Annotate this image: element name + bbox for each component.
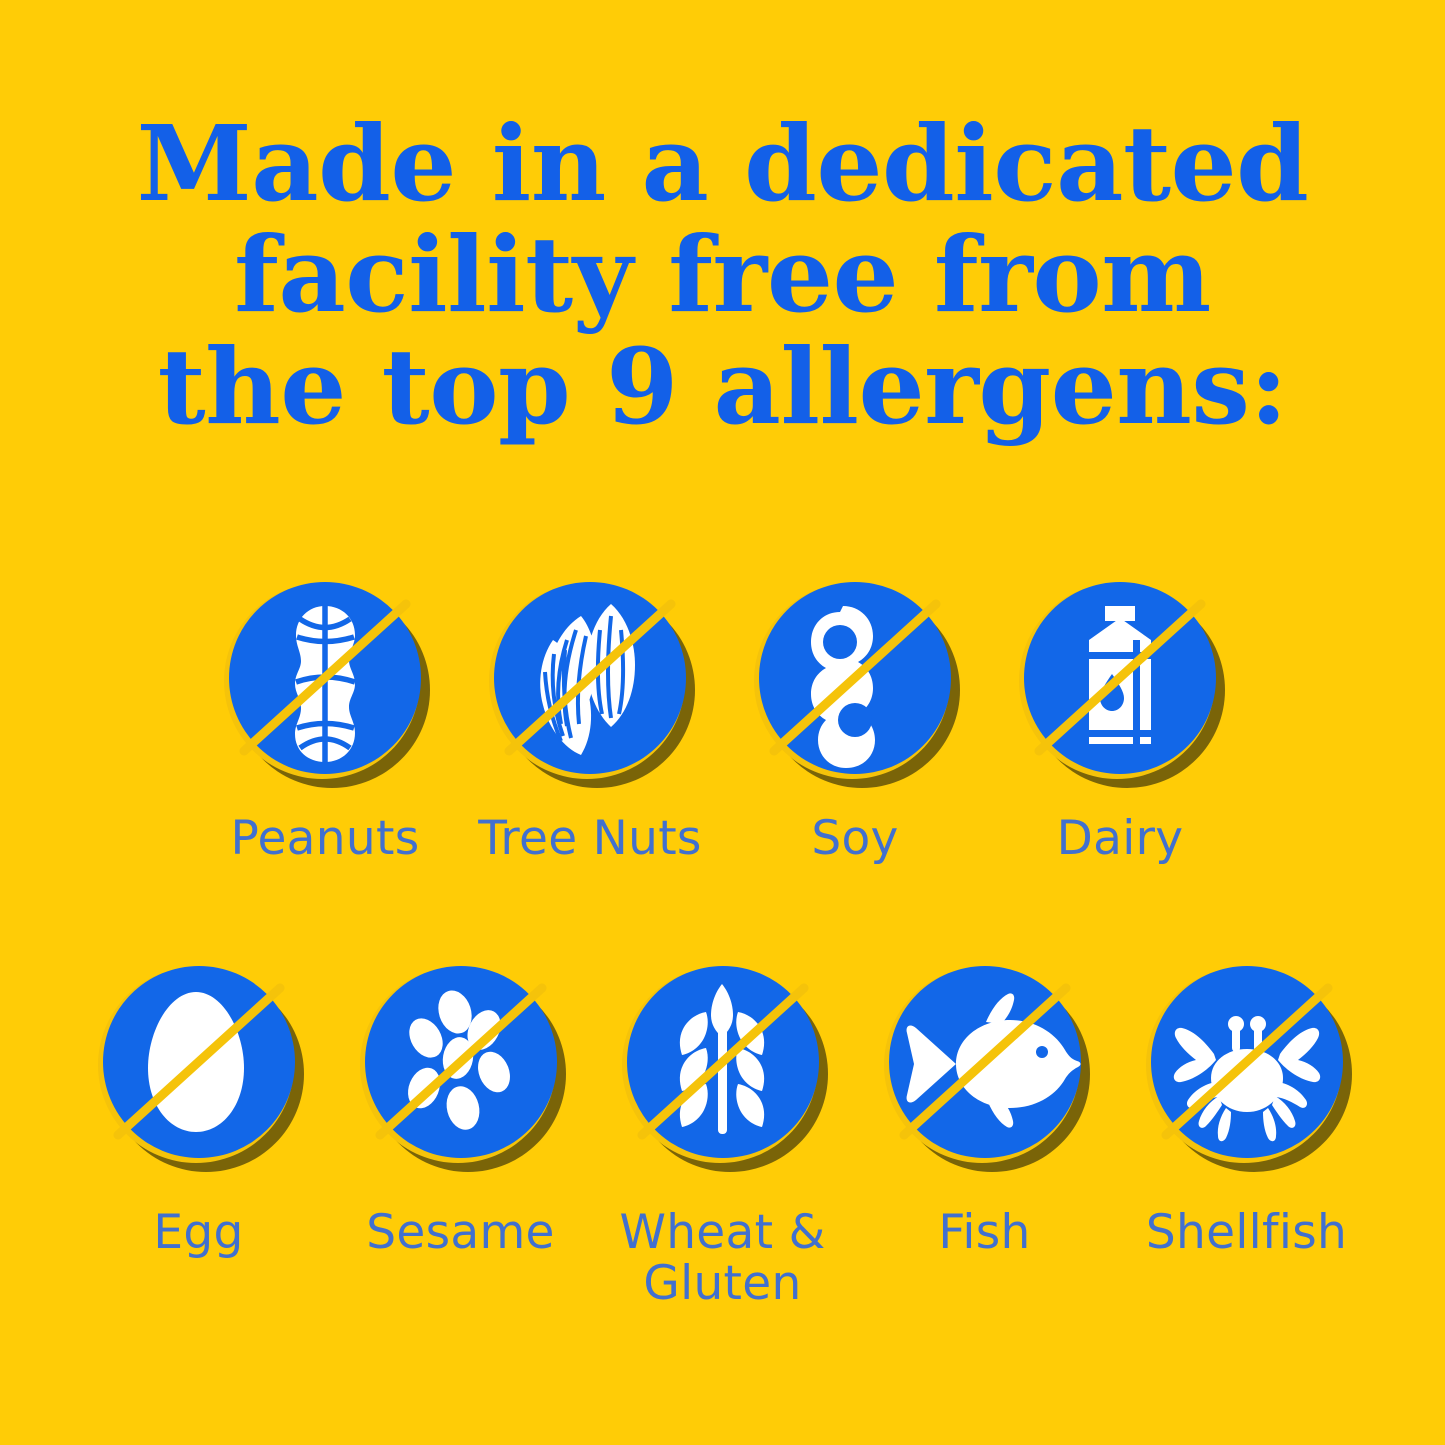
tree-nuts-badge (487, 578, 693, 784)
fish-eye (1036, 1046, 1048, 1058)
dairy-badge (1017, 578, 1223, 784)
allergen-item-shellfish: Shellfish (1116, 962, 1378, 1259)
allergen-item-sesame: Sesame (330, 962, 592, 1259)
page-title: Made in a dedicated facility free from t… (0, 108, 1445, 442)
allergen-item-tree-nuts: Tree Nuts (458, 578, 723, 865)
allergen-item-dairy: Dairy (988, 578, 1253, 865)
allergen-label: Peanuts (231, 814, 420, 865)
allergen-item-fish: Fish (854, 962, 1116, 1259)
allergen-label: Wheat & Gluten (619, 1208, 825, 1310)
page-title-line-1: Made in a dedicated (95, 108, 1350, 219)
allergen-row-2: Egg (0, 962, 1445, 1310)
allergen-item-peanuts: Peanuts (193, 578, 458, 865)
allergen-row-1: Peanuts (0, 578, 1445, 865)
soy-badge (752, 578, 958, 784)
fish-badge (882, 962, 1088, 1168)
allergen-label: Fish (938, 1208, 1030, 1259)
allergen-label: Sesame (366, 1208, 555, 1259)
allergen-item-wheat-gluten: Wheat & Gluten (592, 962, 854, 1310)
sesame-badge (358, 962, 564, 1168)
allergen-label: Tree Nuts (478, 814, 701, 865)
egg-badge (96, 962, 302, 1168)
allergen-poster: Made in a dedicated facility free from t… (0, 0, 1445, 1445)
allergen-label: Soy (811, 814, 898, 865)
allergen-label: Egg (153, 1208, 243, 1259)
allergen-item-soy: Soy (723, 578, 988, 865)
shellfish-badge (1144, 962, 1350, 1168)
page-title-line-2: facility free from (95, 219, 1350, 330)
peanut-badge (222, 578, 428, 784)
allergen-label: Dairy (1057, 814, 1184, 865)
allergen-label: Shellfish (1146, 1208, 1347, 1259)
page-title-line-3: the top 9 allergens: (95, 331, 1350, 442)
allergen-item-egg: Egg (68, 962, 330, 1259)
wheat-badge (620, 962, 826, 1168)
